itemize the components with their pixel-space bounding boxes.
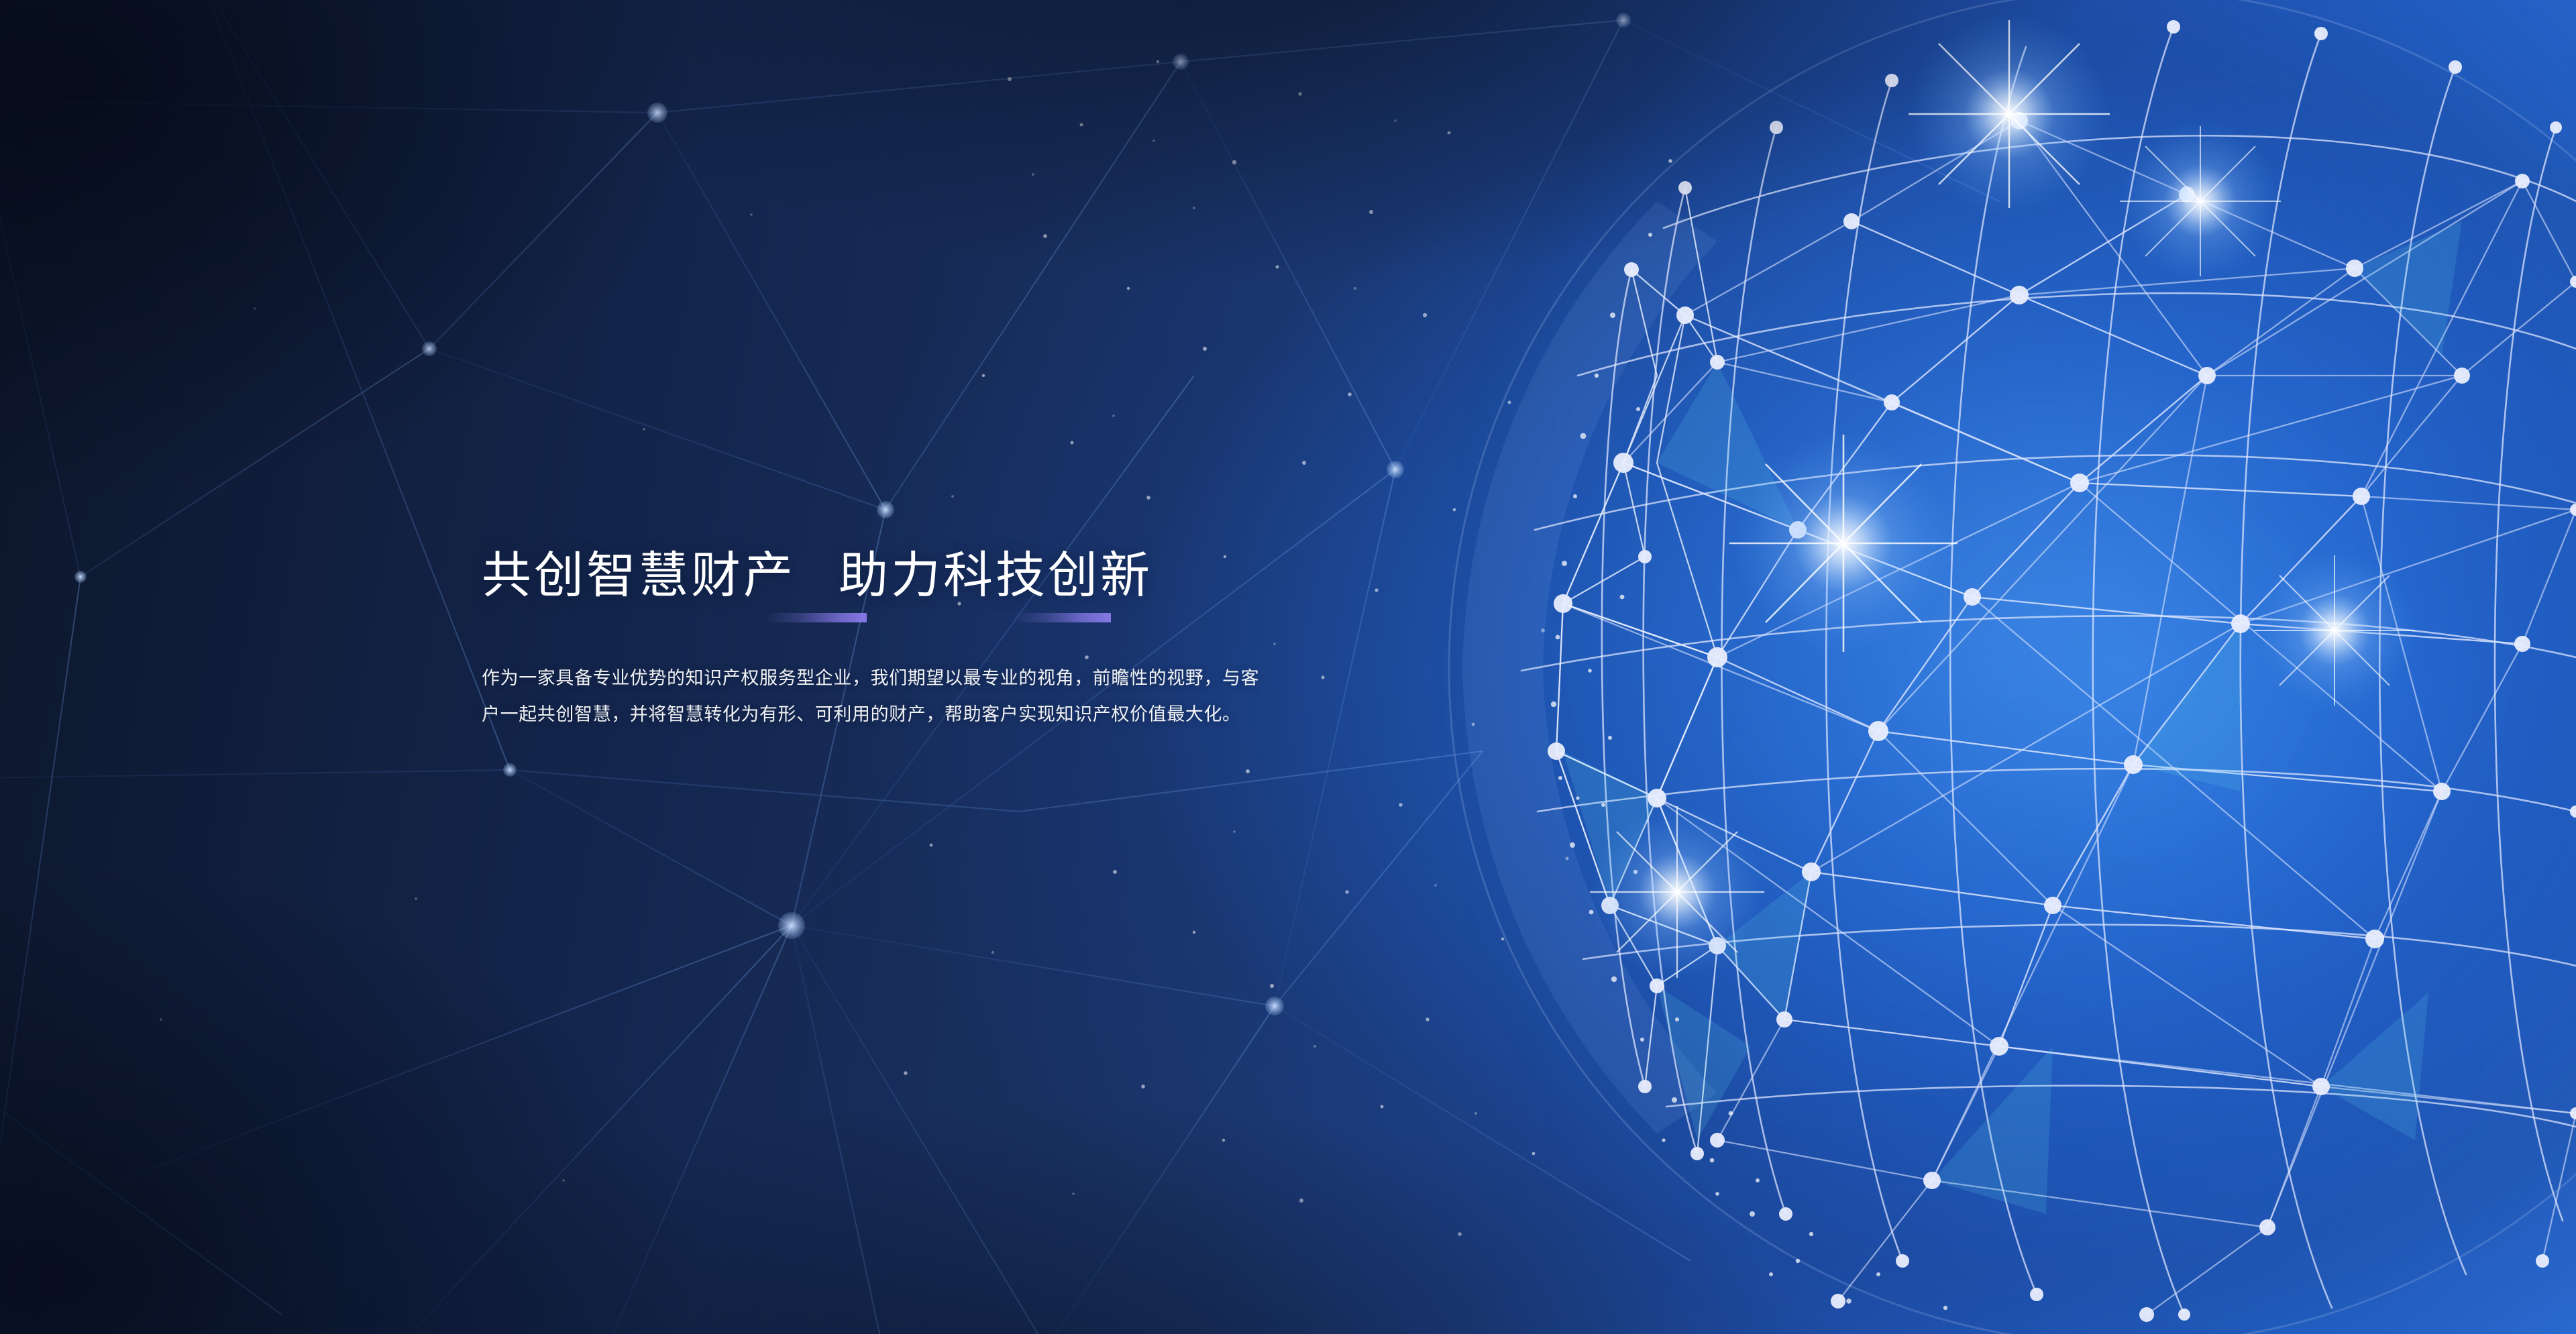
flare-right-mid: [2254, 550, 2415, 711]
flare-upper-right: [2120, 121, 2281, 282]
hero-headline: 共创智慧财产助力科技创新: [482, 549, 1461, 602]
flare-top-right: [1909, 13, 2110, 215]
hero-content: 共创智慧财产助力科技创新 作为一家具备专业优势的知识产权服务型企业，我们期望以最…: [482, 549, 1461, 733]
headline-accent-underlines: [482, 605, 1461, 625]
hero-banner: 共创智慧财产助力科技创新 作为一家具备专业优势的知识产权服务型企业，我们期望以最…: [0, 0, 2576, 1334]
headline-part-1: 共创智慧财产: [482, 547, 796, 603]
accent-underline-1: [766, 613, 867, 622]
headline-part-2: 助力科技创新: [839, 547, 1152, 603]
flare-lower-left: [1590, 805, 1764, 979]
hero-paragraph: 作为一家具备专业优势的知识产权服务型企业，我们期望以最专业的视角，前瞻性的视野，…: [482, 660, 1260, 733]
accent-underline-2: [1012, 613, 1111, 622]
globe-glow: [1483, 0, 2576, 1334]
flare-mid: [1729, 433, 1957, 654]
